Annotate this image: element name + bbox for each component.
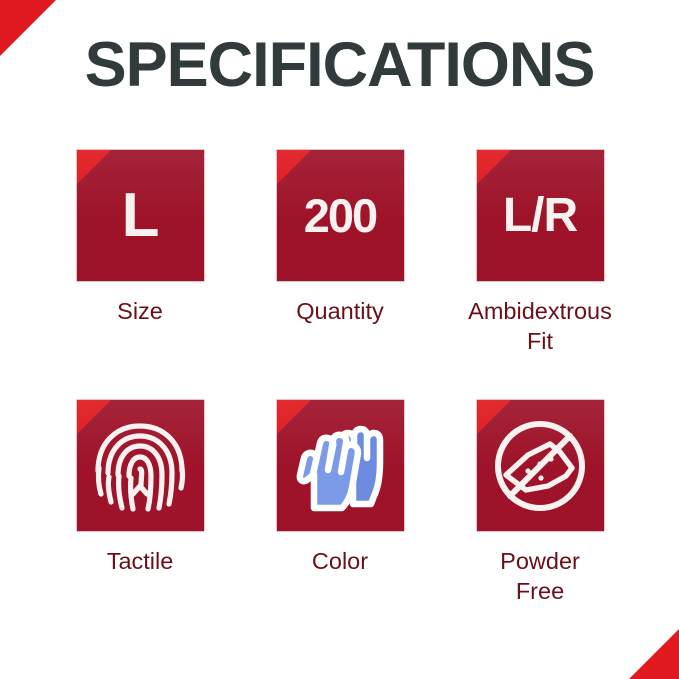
spec-item-color: Color — [240, 400, 440, 606]
spec-label-line-2: Free — [516, 578, 564, 604]
glove-front — [300, 434, 358, 507]
spec-label-ambidextrous-fit: Ambidextrous Fit — [468, 296, 612, 356]
left-right-icon: L/R — [503, 192, 577, 240]
spec-tile-tactile — [77, 400, 204, 531]
spec-item-ambidextrous-fit: L/R Ambidextrous Fit — [440, 150, 640, 356]
spec-label-color: Color — [312, 546, 368, 576]
spec-tile-size: L — [77, 150, 204, 281]
gloves-icon — [290, 416, 390, 516]
specs-grid: L Size 200 Quantity L/R Ambidextrous Fit — [40, 150, 640, 606]
spec-tile-quantity: 200 — [277, 150, 404, 281]
quantity-number-icon: 200 — [304, 192, 376, 239]
spec-item-tactile: Tactile — [40, 400, 240, 606]
fingerprint-icon — [92, 416, 188, 516]
spec-item-powder-free: Powder Free — [440, 400, 640, 606]
specifications-infographic: SPECIFICATIONS L Size 200 Quantity L/R A… — [0, 0, 679, 679]
spec-label-line-1: Ambidextrous — [468, 298, 612, 324]
bottom-right-corner-accent — [629, 629, 679, 679]
no-powder-icon — [488, 414, 592, 518]
spec-label-quantity: Quantity — [296, 296, 384, 326]
spec-tile-color — [277, 400, 404, 531]
spec-label-tactile: Tactile — [107, 546, 174, 576]
spec-item-size: L Size — [40, 150, 240, 356]
spec-label-line-1: Powder — [500, 548, 580, 574]
page-title: SPECIFICATIONS — [0, 34, 679, 97]
spec-label-line-2: Fit — [527, 328, 553, 354]
letter-l-icon: L — [122, 185, 159, 247]
spec-label-powder-free: Powder Free — [500, 546, 580, 606]
spec-label-size: Size — [117, 296, 163, 326]
spec-tile-ambidextrous-fit: L/R — [477, 150, 604, 281]
spec-item-quantity: 200 Quantity — [240, 150, 440, 356]
spec-tile-powder-free — [477, 400, 604, 531]
